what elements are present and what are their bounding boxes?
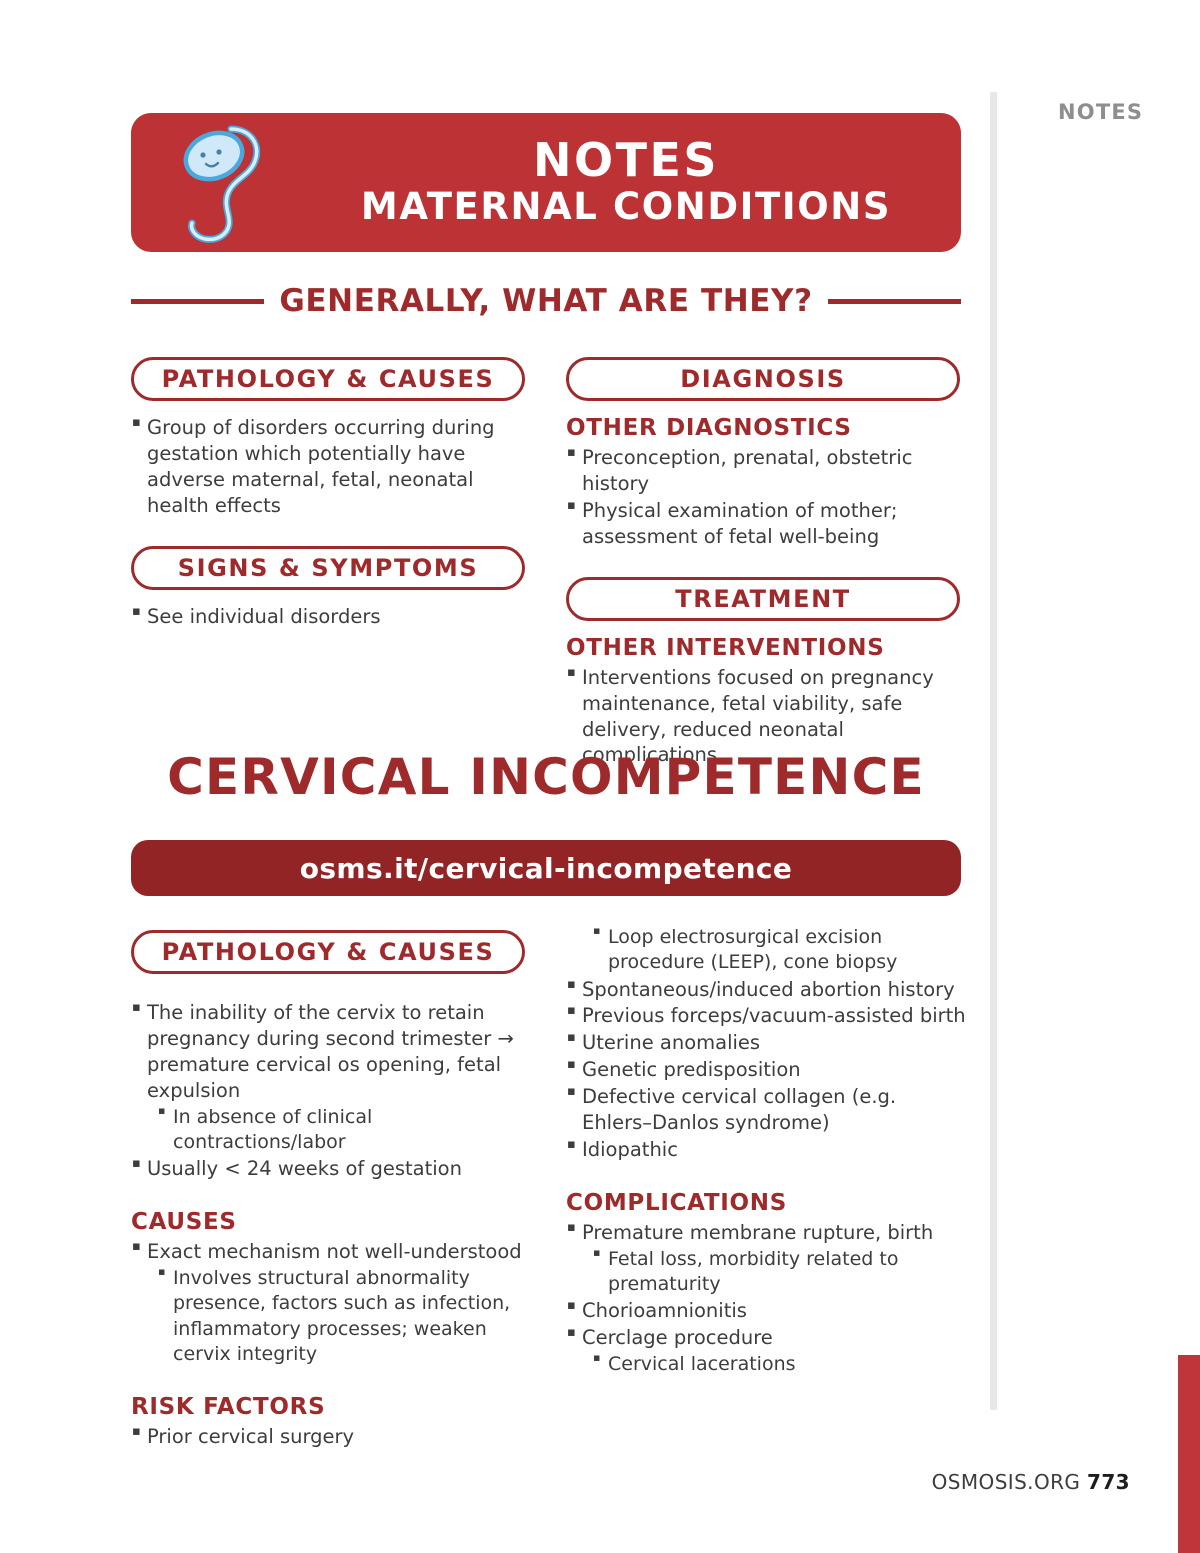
spacer	[566, 401, 966, 415]
list-item: Prior cervical surgery	[131, 1424, 531, 1450]
pill-pathology-causes-general: PATHOLOGY & CAUSES	[131, 357, 525, 401]
vertical-divider-rule	[990, 92, 997, 1410]
spacer	[131, 520, 531, 546]
subhead-complications: COMPLICATIONS	[566, 1190, 966, 1216]
spacer	[131, 1183, 531, 1209]
list-item: Spontaneous/induced abortion history	[566, 977, 966, 1003]
list-item: The inability of the cervix to retain pr…	[131, 1000, 531, 1104]
banner-text-block: NOTES MATERNAL CONDITIONS	[291, 113, 961, 252]
condition-left-column: PATHOLOGY & CAUSES The inability of the …	[131, 930, 531, 1451]
general-left-column: PATHOLOGY & CAUSES Group of disorders oc…	[131, 357, 531, 631]
rule-line-left	[131, 299, 264, 304]
pill-label: PATHOLOGY & CAUSES	[162, 365, 495, 393]
section-rule-heading: GENERALLY, WHAT ARE THEY?	[131, 283, 961, 319]
footer-brand: OSMOSIS.ORG	[932, 1470, 1081, 1494]
list-risk-factors-left: Prior cervical surgery	[131, 1424, 531, 1450]
list-item: In absence of clinical contractions/labo…	[131, 1105, 531, 1156]
condition-url-text: osms.it/cervical-incompetence	[300, 852, 793, 885]
subhead-other-diagnostics: OTHER DIAGNOSTICS	[566, 415, 966, 441]
condition-url-bar[interactable]: osms.it/cervical-incompetence	[131, 840, 961, 896]
page-footer: OSMOSIS.ORG 773	[932, 1470, 1130, 1494]
pill-diagnosis: DIAGNOSIS	[566, 357, 960, 401]
pill-label: DIAGNOSIS	[680, 365, 846, 393]
pill-pathology-causes-condition: PATHOLOGY & CAUSES	[131, 930, 525, 974]
list-item: Premature membrane rupture, birth	[566, 1220, 966, 1246]
list-item: Exact mechanism not well-understood	[131, 1239, 531, 1265]
list-causes: Exact mechanism not well-understood Invo…	[131, 1239, 531, 1367]
list-item: Usually < 24 weeks of gestation	[131, 1156, 531, 1182]
condition-title: CERVICAL INCOMPETENCE	[131, 748, 961, 806]
list-complications: Premature membrane rupture, birth Fetal …	[566, 1220, 966, 1378]
spacer	[131, 401, 531, 415]
pill-treatment: TREATMENT	[566, 577, 960, 621]
list-item: Idiopathic	[566, 1137, 966, 1163]
list-item: Preconception, prenatal, obstetric histo…	[566, 445, 966, 497]
banner-subtitle: MATERNAL CONDITIONS	[361, 186, 891, 227]
spacer	[131, 1368, 531, 1394]
page-canvas: NOTES NOTES MATERNAL CONDITIONS GENERALL…	[0, 0, 1200, 1553]
list-item: Fetal loss, morbidity related to prematu…	[566, 1247, 966, 1298]
list-item: Previous forceps/vacuum-assisted birth	[566, 1003, 966, 1029]
list-item: Genetic predisposition	[566, 1057, 966, 1083]
list-item: Involves structural abnormality presence…	[131, 1266, 531, 1367]
footer-page-number: 773	[1087, 1470, 1130, 1494]
list-item: Physical examination of mother; assessme…	[566, 498, 966, 550]
list-item: Group of disorders occurring during gest…	[131, 415, 531, 519]
pill-label: TREATMENT	[675, 585, 850, 613]
spacer	[566, 551, 966, 577]
rule-line-right	[828, 299, 961, 304]
pill-label: SIGNS & SYMPTOMS	[178, 554, 479, 582]
list-item: Uterine anomalies	[566, 1030, 966, 1056]
list-item: See individual disorders	[131, 604, 531, 630]
spacer	[566, 1164, 966, 1190]
spacer	[131, 974, 531, 1000]
list-item: Cervical lacerations	[566, 1352, 966, 1377]
pill-signs-symptoms: SIGNS & SYMPTOMS	[131, 546, 525, 590]
list-pathology-causes-general: Group of disorders occurring during gest…	[131, 415, 531, 519]
list-item: Loop electrosurgical excision procedure …	[566, 925, 966, 976]
list-signs-symptoms: See individual disorders	[131, 604, 531, 630]
page-edge-color-tab	[1178, 1355, 1200, 1553]
corner-notes-label: NOTES	[1058, 100, 1143, 124]
pill-label: PATHOLOGY & CAUSES	[162, 938, 495, 966]
header-banner: NOTES MATERNAL CONDITIONS	[131, 113, 961, 252]
list-item: Chorioamnionitis	[566, 1298, 966, 1324]
list-item: Cerclage procedure	[566, 1325, 966, 1351]
list-risk-factors-right: Loop electrosurgical excision procedure …	[566, 925, 966, 1163]
subhead-risk-factors: RISK FACTORS	[131, 1394, 531, 1420]
section-rule-text: GENERALLY, WHAT ARE THEY?	[279, 283, 812, 319]
general-right-column: DIAGNOSIS OTHER DIAGNOSTICS Preconceptio…	[566, 357, 966, 769]
list-pathology-causes-condition: The inability of the cervix to retain pr…	[131, 1000, 531, 1182]
spacer	[131, 590, 531, 604]
list-other-diagnostics: Preconception, prenatal, obstetric histo…	[566, 445, 966, 550]
condition-right-column: Loop electrosurgical excision procedure …	[566, 925, 966, 1379]
banner-title: NOTES	[533, 137, 719, 184]
subhead-other-interventions: OTHER INTERVENTIONS	[566, 635, 966, 661]
list-item: Defective cervical collagen (e.g. Ehlers…	[566, 1084, 966, 1136]
subhead-causes: CAUSES	[131, 1209, 531, 1235]
spacer	[566, 621, 966, 635]
sperm-cell-icon	[169, 119, 279, 247]
